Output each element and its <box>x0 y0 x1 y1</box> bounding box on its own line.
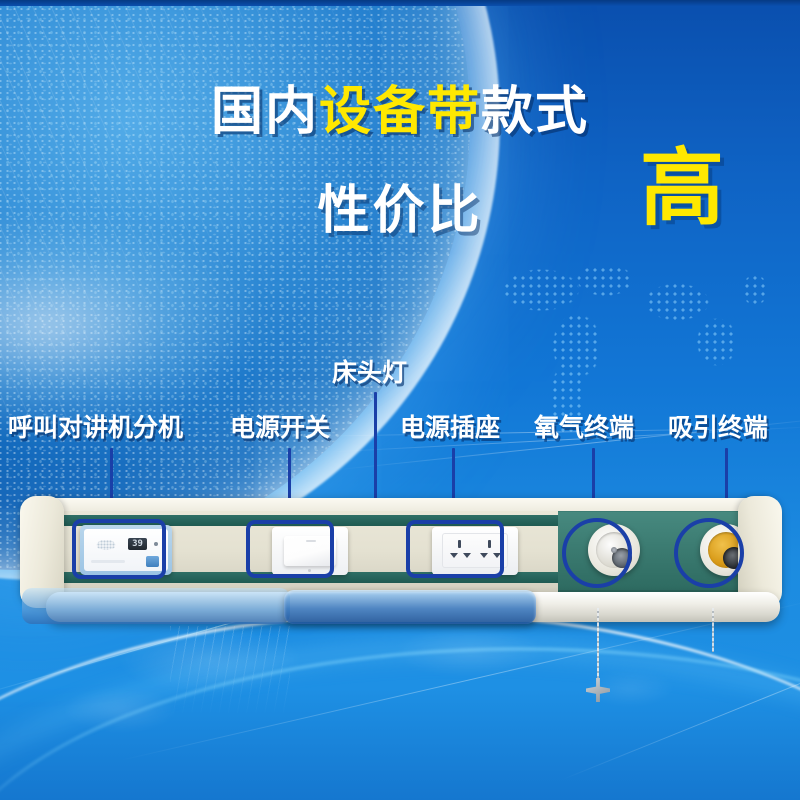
headline-line-1: 国内设备带款式 <box>0 86 800 138</box>
big-accent-character: 高 <box>640 146 724 230</box>
callout-bed-lamp: 床头灯 <box>332 360 407 385</box>
panel-top-lip <box>22 498 780 511</box>
light-streak <box>560 623 800 781</box>
value-for-money-text: 性价比 <box>317 181 482 241</box>
pull-cord[interactable] <box>597 608 599 682</box>
continent-silhouettes <box>0 600 800 800</box>
highlight-suction-terminal <box>674 518 744 588</box>
rail-slider-left[interactable] <box>22 588 290 624</box>
rail-slider[interactable] <box>284 590 536 624</box>
top-edge-band <box>0 0 800 6</box>
lens-flare <box>0 215 260 435</box>
callout-power-socket: 电源插座 <box>400 415 500 440</box>
highlight-power-switch <box>246 520 334 578</box>
bottom-arc-glow <box>0 640 800 800</box>
faint-grid-lines <box>170 626 290 716</box>
highlight-oxygen-terminal <box>562 518 632 588</box>
pull-cord-weight-icon[interactable] <box>586 678 610 702</box>
callout-nurse-call-intercom: 呼叫对讲机分机 <box>8 415 183 440</box>
callout-oxygen-terminal: 氧气终端 <box>534 415 634 440</box>
headline-part-3: 款式 <box>481 82 589 142</box>
headline-part-2: 设备带 <box>319 82 481 142</box>
poster-canvas: 国内设备带款式 性价比 高 呼叫对讲机分机 电源开关 床头灯 电源插座 氧气终端… <box>0 0 800 800</box>
bottom-light-arc-1 <box>0 612 800 800</box>
callout-suction-terminal: 吸引终端 <box>668 415 768 440</box>
highlight-power-socket <box>406 520 504 578</box>
highlight-intercom <box>72 519 166 579</box>
pull-cord-secondary <box>712 608 714 652</box>
bottom-light-arc-2 <box>0 648 800 800</box>
callout-power-switch: 电源开关 <box>230 415 330 440</box>
headline-part-1: 国内 <box>211 82 319 142</box>
